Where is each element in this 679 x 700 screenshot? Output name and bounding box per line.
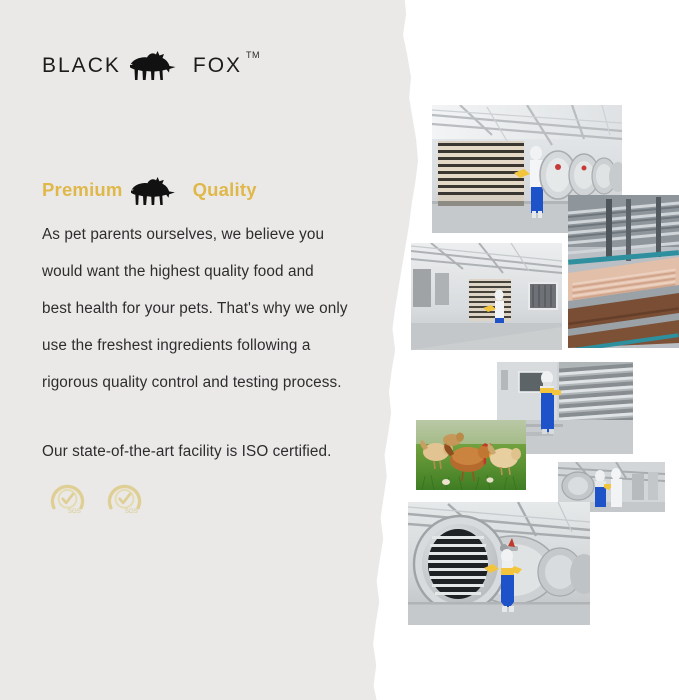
photo-free-range-chickens	[416, 420, 526, 490]
product-description-panel: BLACK FOX TM Premium Quality As pet pare…	[0, 0, 679, 700]
photo-open-autoclave	[408, 502, 590, 625]
photo-collage	[0, 0, 679, 700]
photo-tray-racks-meat	[568, 195, 679, 348]
photo-facility-corridor	[411, 243, 562, 350]
